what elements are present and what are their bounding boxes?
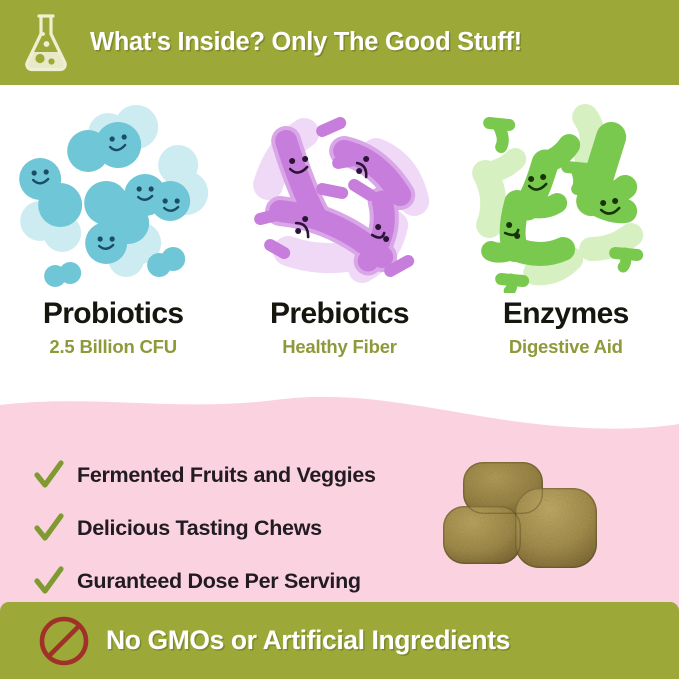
check-icon — [34, 460, 64, 490]
list-item: Guranteed Dose Per Serving — [34, 561, 454, 601]
footer-title: No GMOs or Artificial Ingredients — [106, 625, 510, 656]
ingredient-name: Prebiotics — [270, 299, 409, 329]
ingredient-subtitle: 2.5 Billion CFU — [49, 338, 177, 357]
prebiotic-rod-bacteria-art — [226, 93, 452, 293]
enzyme-branched-shapes-art — [453, 93, 679, 293]
list-item: Fermented Fruits and Veggies — [34, 455, 454, 495]
ingredient-column-prebiotics: Prebiotics Healthy Fiber — [226, 85, 452, 405]
benefit-label: Delicious Tasting Chews — [77, 516, 322, 541]
benefit-label: Guranteed Dose Per Serving — [77, 569, 361, 594]
ingredient-infographic: What's Inside? Only The Good Stuff! — [0, 0, 679, 679]
flask-icon — [18, 12, 74, 74]
chew-treats-cluster-image — [437, 448, 637, 583]
ingredient-column-enzymes: Enzymes Digestive Aid — [453, 85, 679, 405]
list-item: Delicious Tasting Chews — [34, 508, 454, 548]
ingredient-column-probiotics: Probiotics 2.5 Billion CFU — [0, 85, 226, 405]
check-icon — [34, 513, 64, 543]
ingredient-subtitle: Healthy Fiber — [282, 338, 397, 357]
ingredients-section: Probiotics 2.5 Billion CFU — [0, 85, 679, 405]
benefit-label: Fermented Fruits and Veggies — [77, 463, 376, 488]
check-icon — [34, 566, 64, 596]
header-banner: What's Inside? Only The Good Stuff! — [0, 0, 679, 85]
ingredient-subtitle: Digestive Aid — [509, 338, 623, 357]
header-title: What's Inside? Only The Good Stuff! — [90, 28, 522, 57]
benefits-list: Fermented Fruits and Veggies Delicious T… — [34, 455, 454, 614]
probiotic-bacteria-cluster-art — [0, 93, 226, 293]
prohibition-no-icon — [38, 615, 90, 667]
footer-banner: No GMOs or Artificial Ingredients — [0, 602, 679, 679]
ingredient-name: Probiotics — [43, 299, 184, 329]
ingredient-name: Enzymes — [503, 299, 629, 329]
